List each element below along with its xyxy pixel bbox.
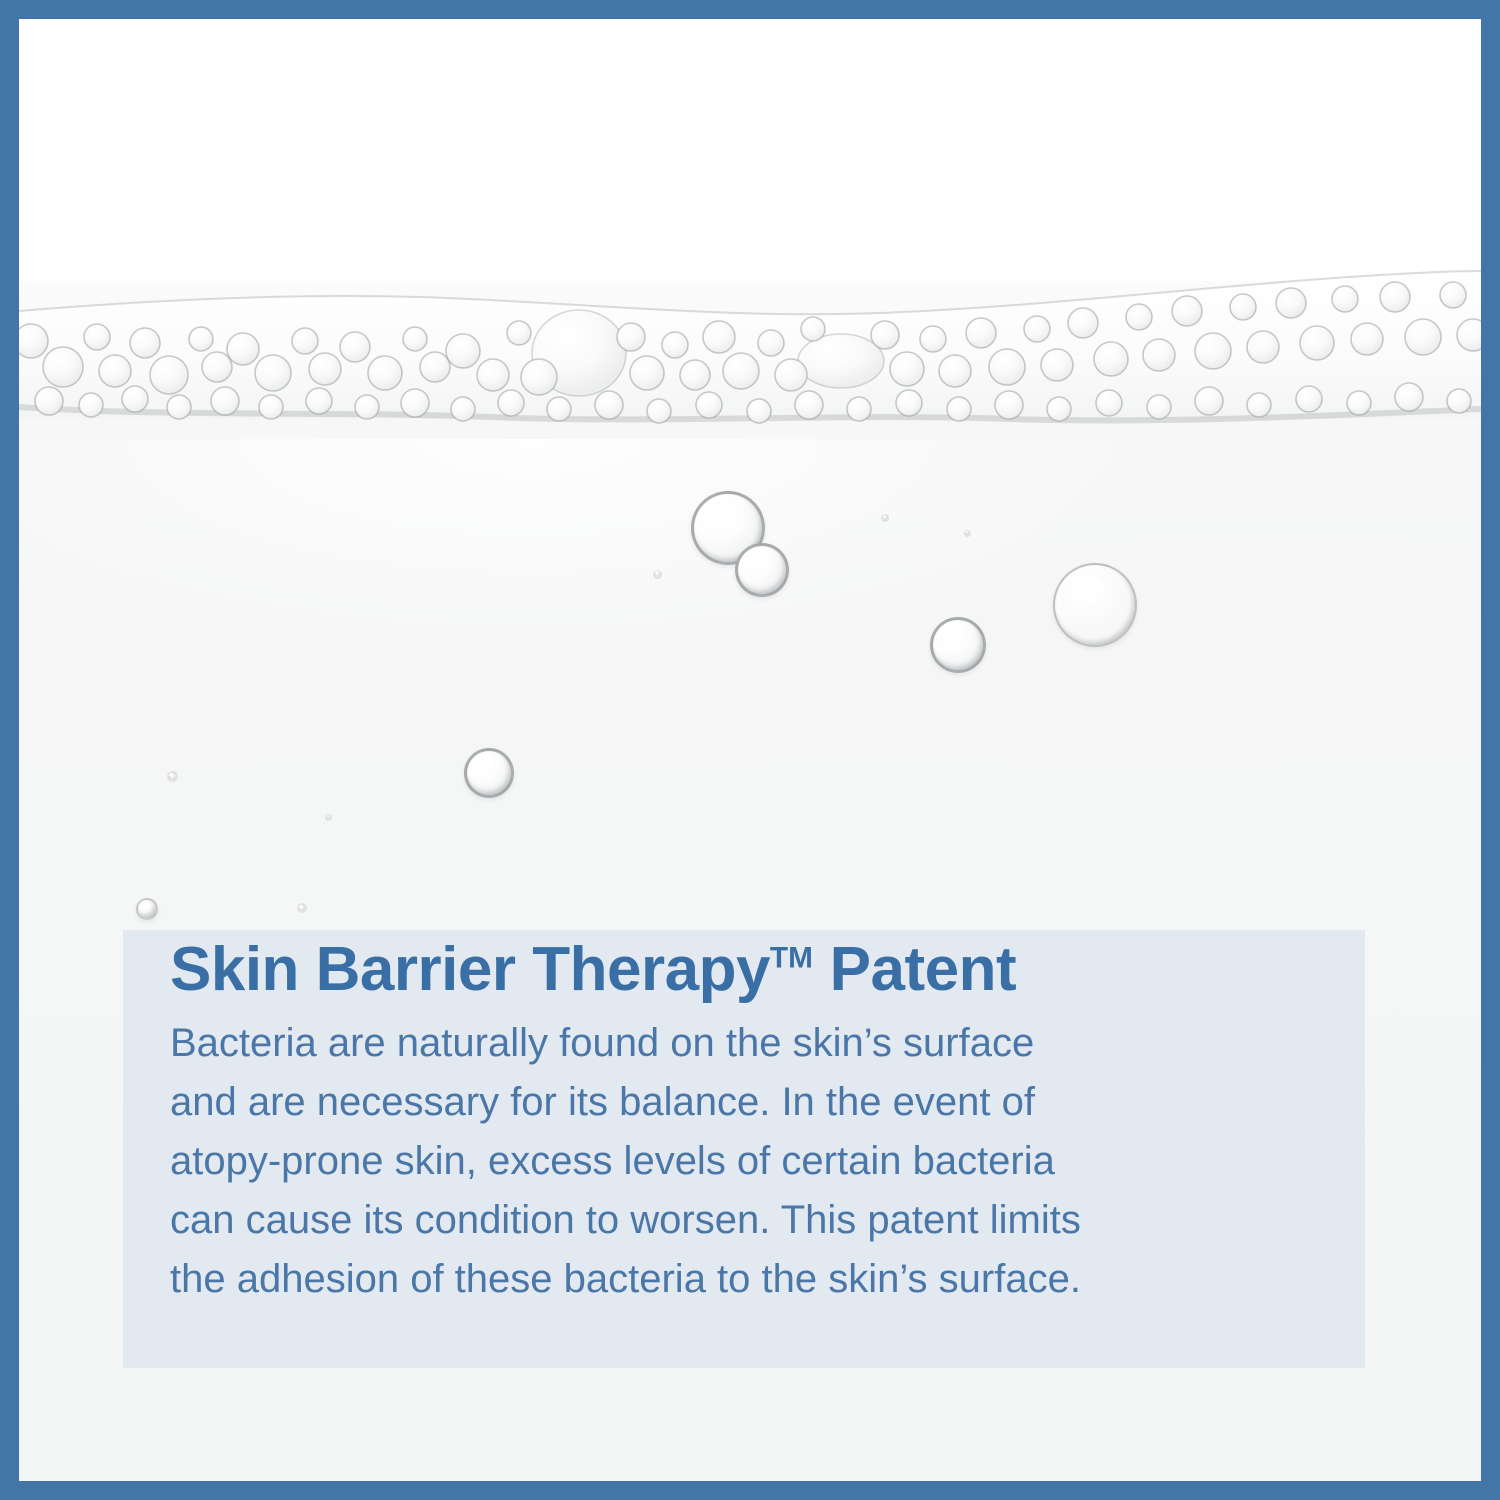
product-claim-card: Skin Barrier TherapyTM Patent Bacteria a… bbox=[0, 0, 1500, 1500]
body-line: the adhesion of these bacteria to the sk… bbox=[170, 1250, 1290, 1309]
body-line: can cause its condition to worsen. This … bbox=[170, 1191, 1290, 1250]
trademark-symbol: TM bbox=[770, 941, 813, 974]
body-line: atopy-prone skin, excess levels of certa… bbox=[170, 1132, 1290, 1191]
page-title-main: Skin Barrier Therapy bbox=[170, 935, 770, 1004]
body-line: and are necessary for its balance. In th… bbox=[170, 1073, 1290, 1132]
page-title-tail: Patent bbox=[813, 935, 1016, 1004]
body-line: Bacteria are naturally found on the skin… bbox=[170, 1014, 1290, 1073]
artboard: Skin Barrier TherapyTM Patent Bacteria a… bbox=[19, 19, 1481, 1481]
white-upper-background bbox=[19, 19, 1481, 289]
body-copy: Bacteria are naturally found on the skin… bbox=[170, 1014, 1290, 1309]
page-title: Skin Barrier TherapyTM Patent bbox=[170, 939, 1370, 1001]
